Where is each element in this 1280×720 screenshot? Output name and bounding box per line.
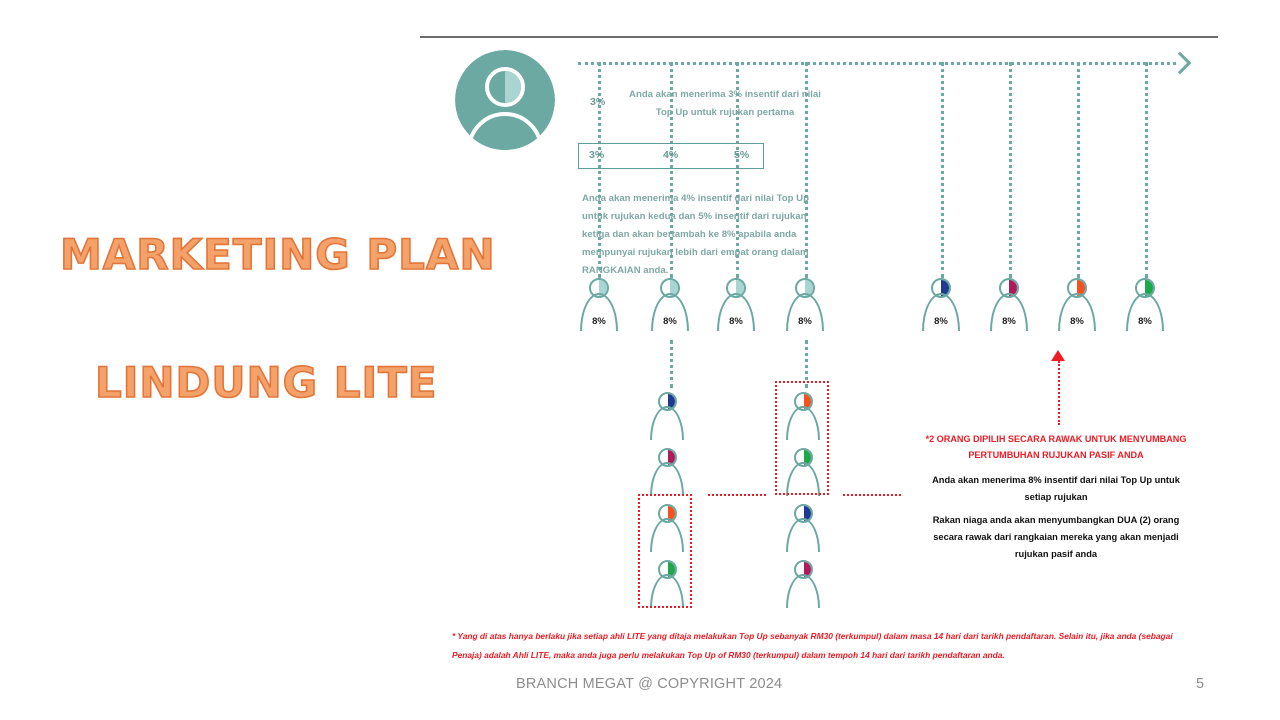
page-title-line-2: LINDUNG LITE: [95, 358, 437, 407]
spine-v-5: [941, 62, 944, 278]
description-second-referral: Anda akan menerima 4% insentif dari nila…: [582, 190, 820, 280]
person-percent-1: 8%: [574, 316, 624, 327]
slide-root: MARKETING PLAN LINDUNG LITE 3% 3% 4% 5% …: [0, 0, 1280, 720]
person-percent-3: 8%: [711, 316, 761, 327]
rate-box: 3% 4% 5%: [578, 143, 764, 169]
footer-page-number: 5: [1196, 676, 1204, 692]
person-referral-5: 8%: [922, 278, 960, 312]
person-body: [650, 462, 684, 496]
rate-value-1: 3%: [589, 149, 604, 161]
person-body: [786, 518, 820, 552]
note-random-selection: *2 ORANG DIPILIH SECARA RAWAK UNTUK MENY…: [925, 431, 1187, 463]
person-referral-7: 8%: [1058, 278, 1096, 312]
main-avatar: [455, 50, 555, 150]
rate-value-3: 5%: [734, 149, 749, 161]
person-referral-2: 8%: [651, 278, 689, 312]
person-body: [650, 406, 684, 440]
red-connector-right: [843, 494, 901, 496]
red-connector-left: [708, 494, 766, 496]
person-referral-3: 8%: [717, 278, 755, 312]
person-referral-8: 8%: [1126, 278, 1164, 312]
spine-v-7: [1077, 62, 1080, 278]
person-percent-5: 8%: [916, 316, 966, 327]
highlight-box-right: [775, 381, 829, 495]
left-rate-label: 3%: [590, 96, 605, 108]
top-divider: [420, 36, 1218, 38]
tree-node-a1: [650, 392, 684, 424]
tree-drop-line-left: [670, 340, 673, 388]
tree-node-b4: [786, 560, 820, 592]
spine-v-6: [1009, 62, 1012, 278]
footer-copyright: BRANCH MEGAT @ COPYRIGHT 2024: [516, 676, 782, 692]
person-referral-1: 8%: [580, 278, 618, 312]
avatar-head-icon: [485, 67, 525, 107]
page-title-line-1: MARKETING PLAN: [60, 230, 496, 279]
footnote-terms: * Yang di atas hanya berlaku jika setiap…: [452, 627, 1192, 665]
avatar-head-fill: [505, 71, 521, 103]
person-referral-4: 8%: [786, 278, 824, 312]
person-percent-2: 8%: [645, 316, 695, 327]
note-incentive: Anda akan menerima 8% insentif dari nila…: [925, 472, 1187, 506]
person-percent-7: 8%: [1052, 316, 1102, 327]
tree-node-a2: [650, 448, 684, 480]
title-block: MARKETING PLAN LINDUNG LITE: [0, 0, 420, 720]
red-arrow-head-icon: [1051, 350, 1065, 361]
tree-node-b3: [786, 504, 820, 536]
note-partner-contribution: Rakan niaga anda akan menyumbangkan DUA …: [925, 512, 1187, 563]
person-referral-6: 8%: [990, 278, 1028, 312]
person-body: [786, 574, 820, 608]
avatar-clip: [455, 50, 555, 150]
description-first-referral: Anda akan menerima 3% insentif dari nila…: [625, 86, 825, 122]
backbone-horizontal-line: [578, 62, 1176, 65]
red-arrow-shaft: [1058, 361, 1060, 425]
spine-v-8: [1145, 62, 1148, 278]
highlight-box-left: [638, 494, 692, 608]
chevron-right-icon: [1169, 52, 1192, 75]
person-percent-6: 8%: [984, 316, 1034, 327]
person-percent-8: 8%: [1120, 316, 1170, 327]
rate-value-2: 4%: [663, 149, 678, 161]
person-percent-4: 8%: [780, 316, 830, 327]
